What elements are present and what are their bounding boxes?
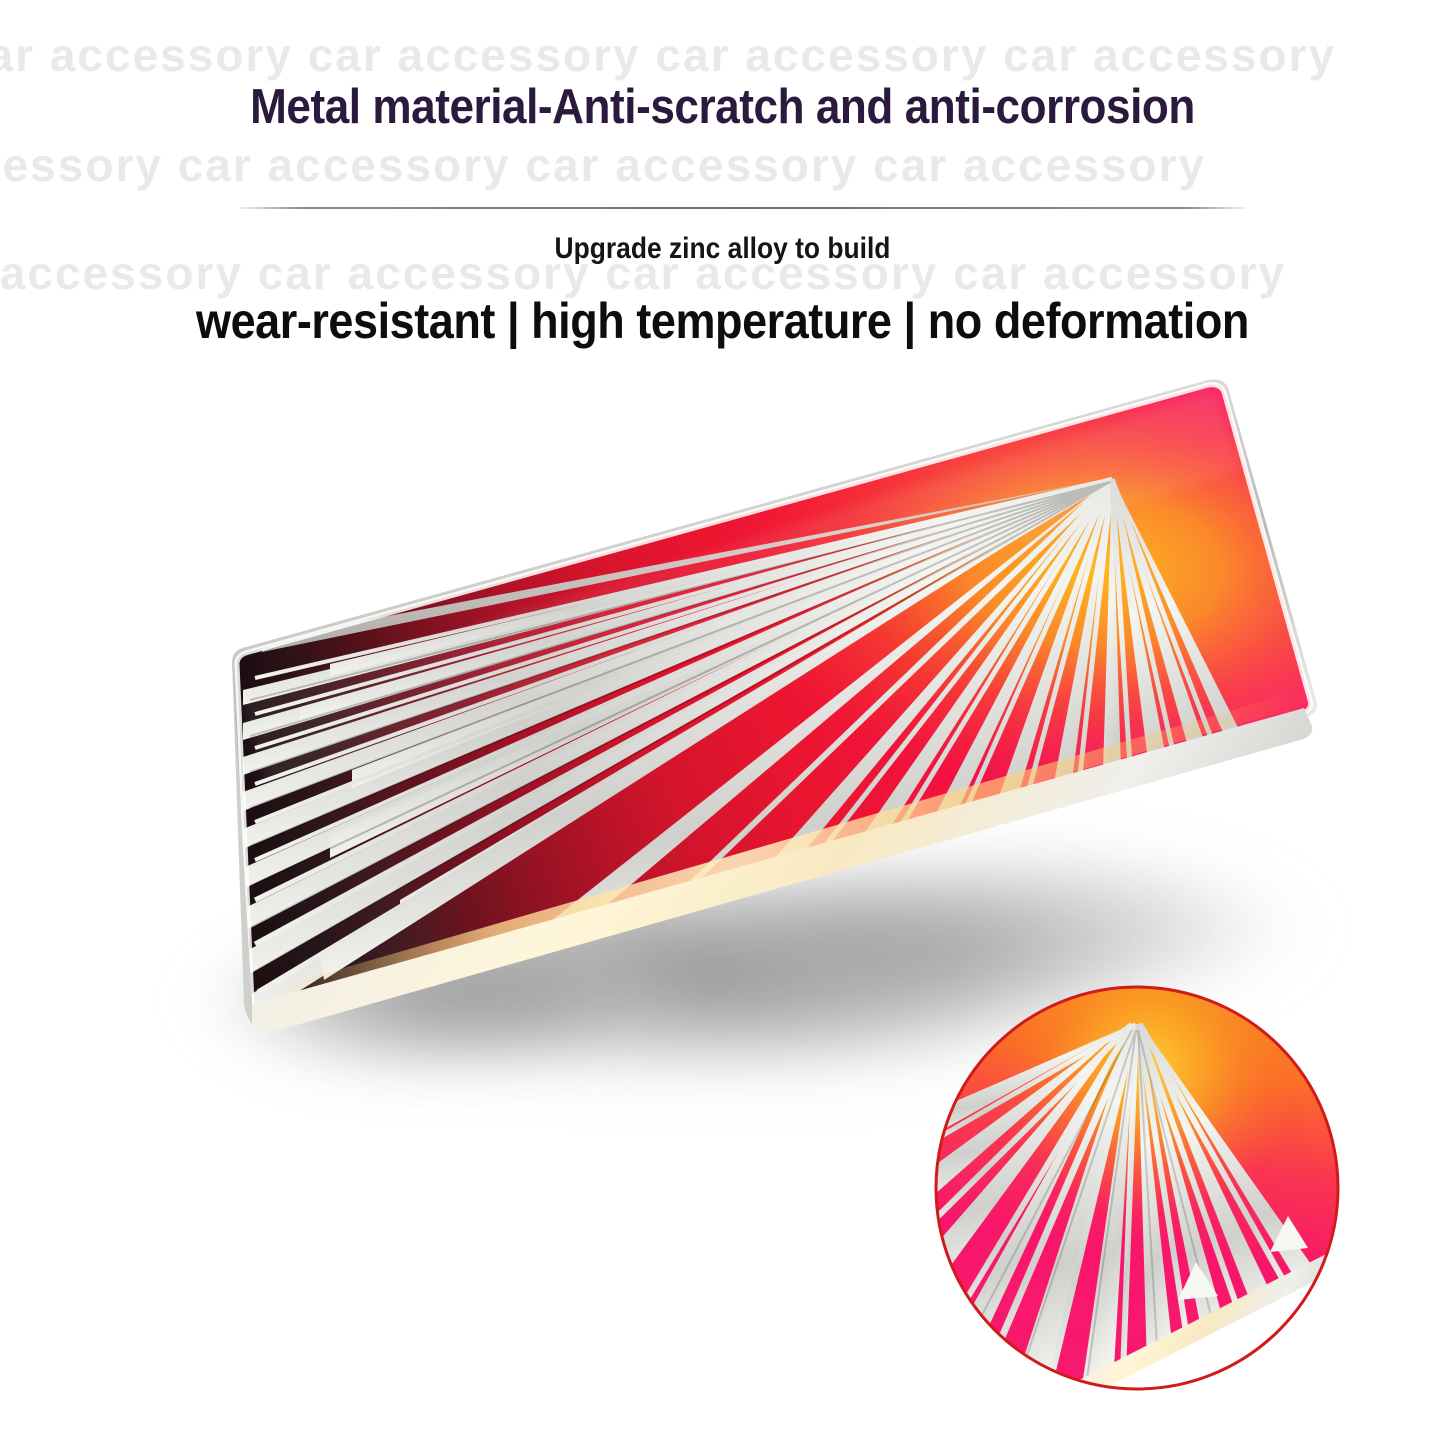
product-banner-page: car accessory car accessory car accessor… [0, 0, 1445, 1445]
product-illustration-svg [0, 0, 1445, 1445]
product-image [0, 0, 1445, 1445]
